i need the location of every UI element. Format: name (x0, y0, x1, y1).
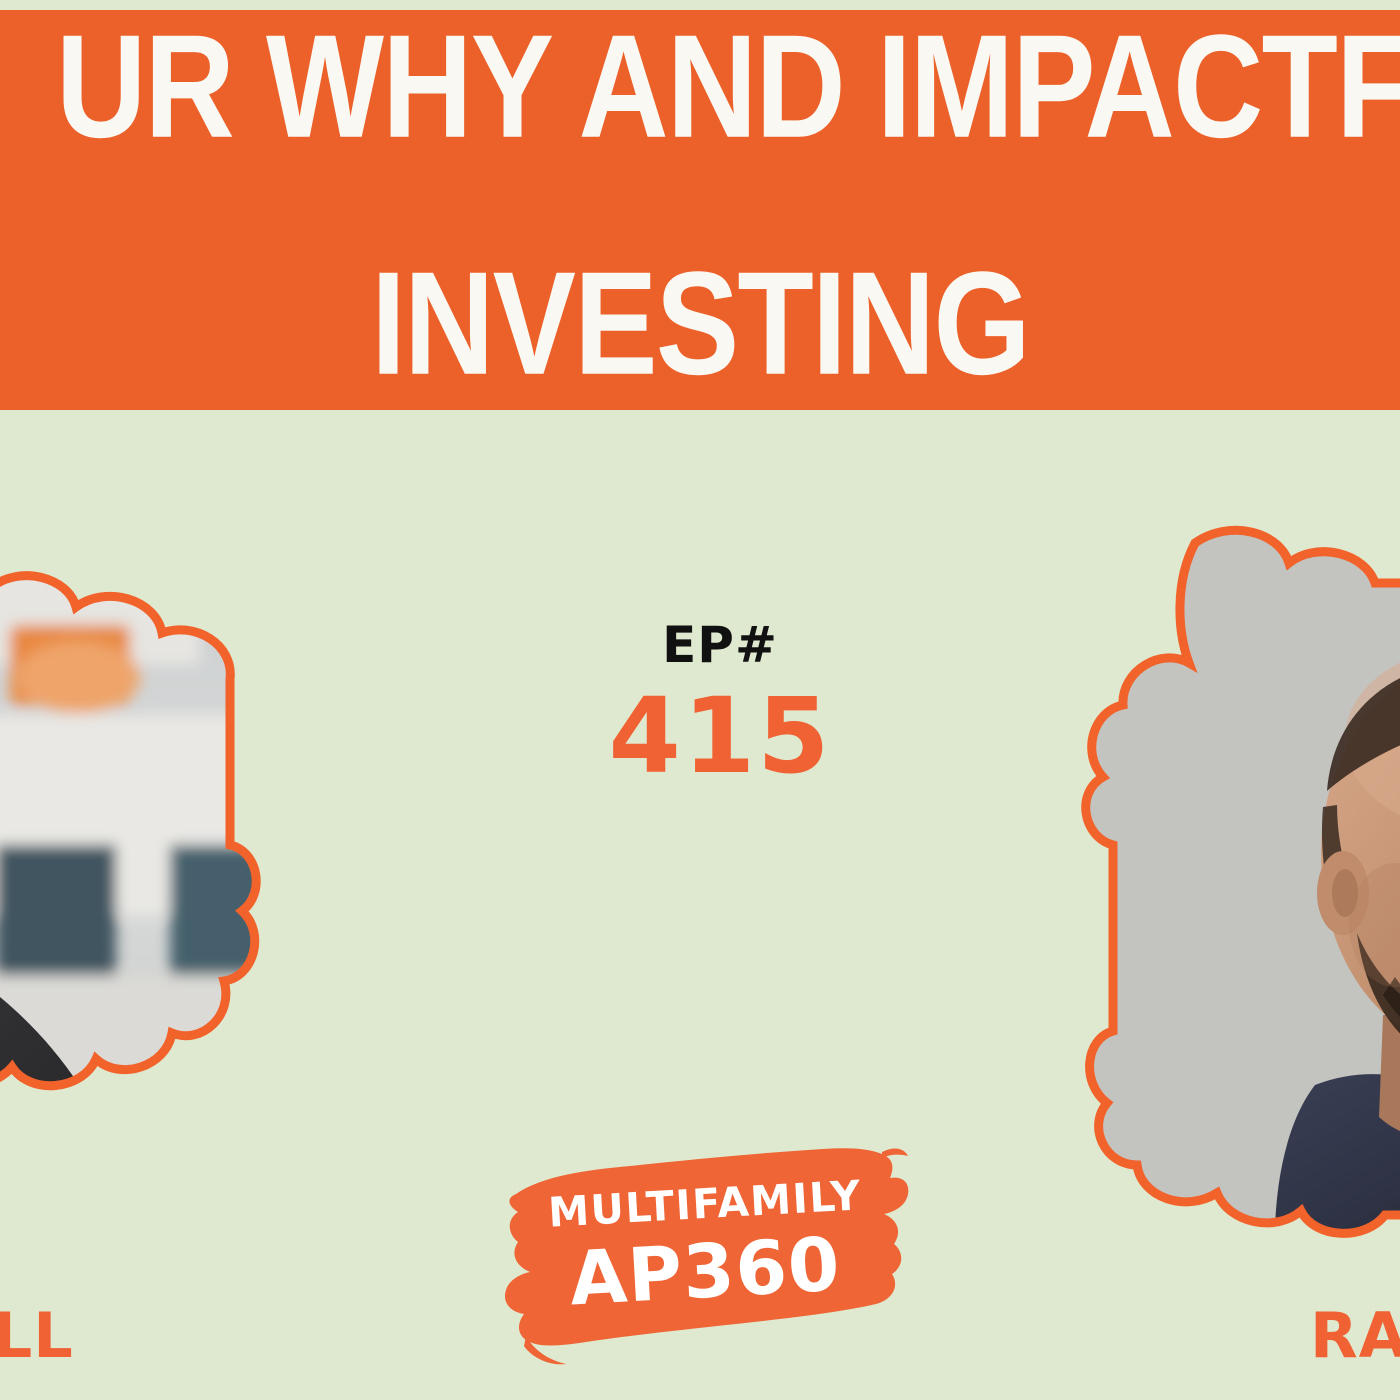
guest-name-right: RA (1310, 1305, 1400, 1367)
title-line-2: INVESTING (56, 250, 1344, 397)
episode-block: EP# 415 (510, 620, 930, 788)
guest-name-left: WELL (0, 1305, 74, 1367)
guest-photo-frame-left (0, 545, 310, 1255)
guest-photo-right (1025, 485, 1400, 1305)
episode-label: EP# (510, 620, 930, 670)
podcast-cover-art: UR WHY AND IMPACTFUL MU INVESTING (0, 0, 1400, 1400)
title-line-1: UR WHY AND IMPACTFUL MU (56, 13, 1344, 160)
title-banner: UR WHY AND IMPACTFUL MU INVESTING (0, 10, 1400, 410)
brand-badge: MULTIFAMILY AP360 (490, 1140, 920, 1380)
brush-stroke-icon (490, 1140, 920, 1380)
guest-photo-frame-right (1065, 525, 1400, 1255)
episode-number: 415 (510, 684, 930, 788)
